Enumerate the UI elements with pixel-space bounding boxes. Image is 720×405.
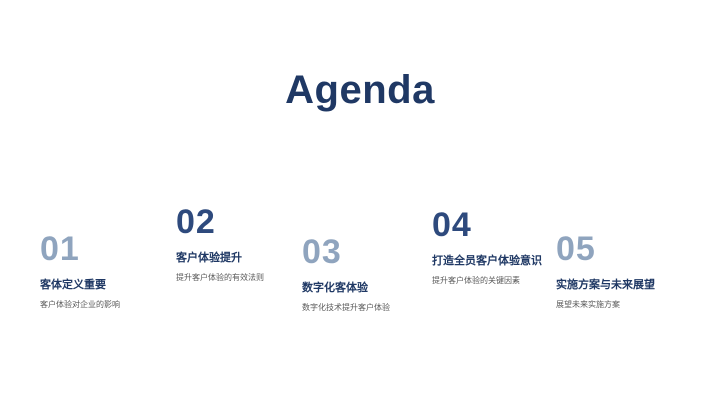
agenda-item-number: 05: [556, 232, 655, 266]
agenda-item-04[interactable]: 04 打造全员客户体验意识 提升客户体验的关键因素: [432, 208, 542, 287]
agenda-item-number: 02: [176, 205, 264, 239]
agenda-item-title: 打造全员客户体验意识: [432, 254, 542, 268]
agenda-item-03[interactable]: 03 数字化客体验 数字化技术提升客户体验: [302, 235, 390, 314]
page-title: Agenda: [0, 68, 720, 112]
agenda-item-02[interactable]: 02 客户体验提升 提升客户体验的有效法则: [176, 205, 264, 284]
agenda-item-01[interactable]: 01 客体定义重要 客户体验对企业的影响: [40, 232, 120, 311]
agenda-item-description: 提升客户体验的关键因素: [432, 276, 542, 286]
agenda-item-number: 04: [432, 208, 542, 242]
agenda-item-description: 展望未来实施方案: [556, 300, 655, 310]
agenda-item-title: 客体定义重要: [40, 278, 120, 292]
agenda-item-title: 客户体验提升: [176, 251, 264, 265]
agenda-item-number: 03: [302, 235, 390, 269]
agenda-slide: Agenda 01 客体定义重要 客户体验对企业的影响 02 客户体验提升 提升…: [0, 0, 720, 405]
agenda-item-05[interactable]: 05 实施方案与未来展望 展望未来实施方案: [556, 232, 655, 311]
agenda-item-number: 01: [40, 232, 120, 266]
agenda-item-title: 数字化客体验: [302, 281, 390, 295]
agenda-item-description: 客户体验对企业的影响: [40, 300, 120, 310]
agenda-item-title: 实施方案与未来展望: [556, 278, 655, 292]
agenda-item-description: 提升客户体验的有效法则: [176, 273, 264, 283]
agenda-item-description: 数字化技术提升客户体验: [302, 303, 390, 313]
